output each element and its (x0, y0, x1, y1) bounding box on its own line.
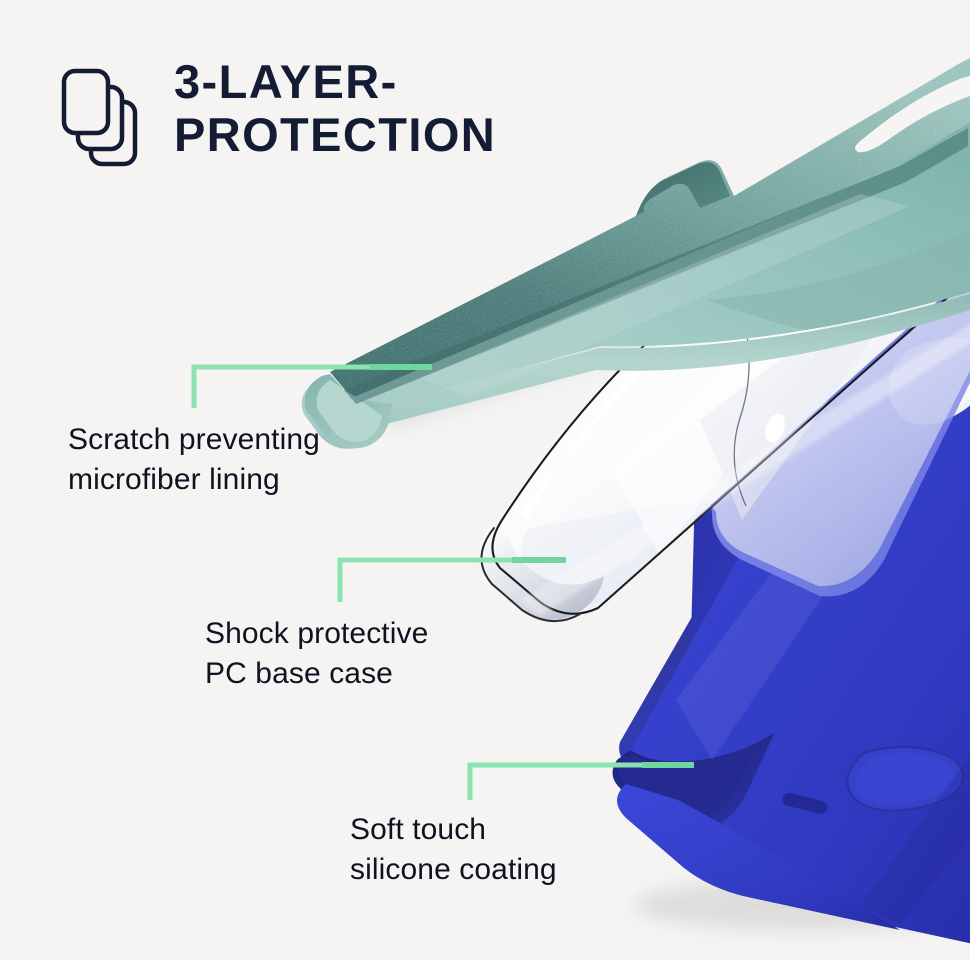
callout-label-3: Soft touch silicone coating (350, 810, 557, 890)
page-title: 3-LAYER- PROTECTION (174, 56, 496, 161)
callout-shock-protective-pc-base-case: Shock protective PC base case (205, 614, 428, 694)
layers-icon-sheet-front (64, 71, 108, 133)
header: 3-LAYER- PROTECTION (58, 56, 496, 174)
callout-label-2: Shock protective PC base case (205, 614, 428, 694)
three-layers-icon (58, 62, 144, 174)
infographic-canvas: 3-LAYER- PROTECTION Scratch preventing m… (0, 0, 970, 960)
callout-label-1: Scratch preventing microfiber lining (68, 420, 320, 500)
callout-scratch-preventing-microfiber-lining: Scratch preventing microfiber lining (68, 420, 320, 500)
callout-soft-touch-silicone-coating: Soft touch silicone coating (350, 810, 557, 890)
